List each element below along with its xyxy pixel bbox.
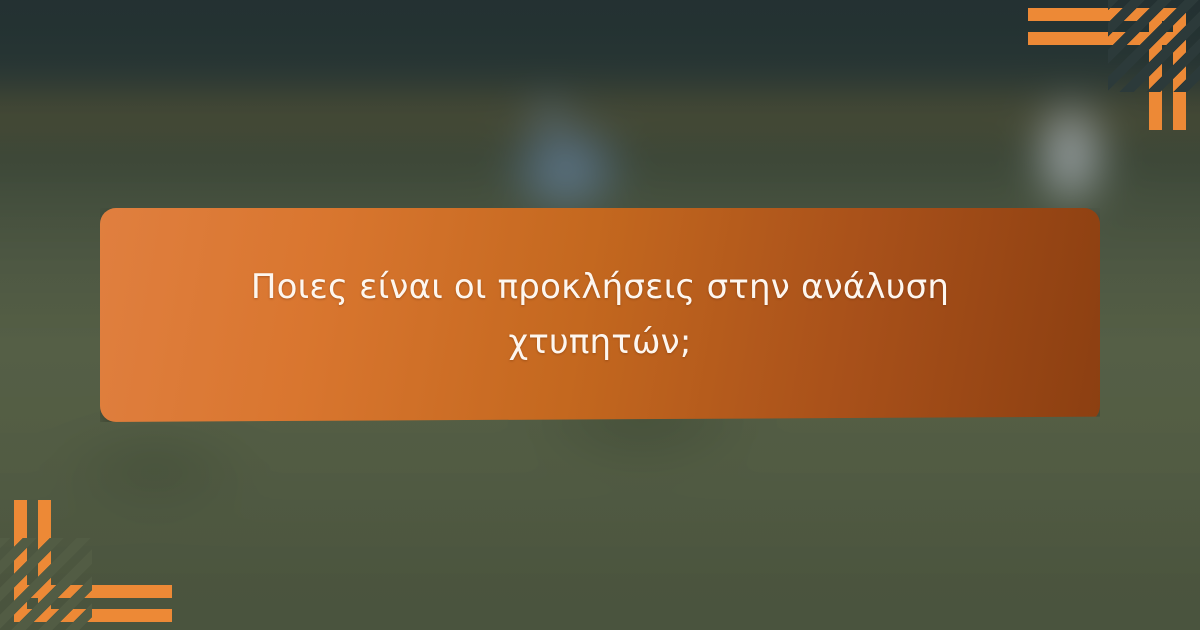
bracket-hatch-pattern: [1108, 0, 1200, 92]
poster-canvas: Ποιες είναι οι προκλήσεις στην ανάλυση χ…: [0, 0, 1200, 630]
corner-bracket-top-right: [1028, 0, 1200, 132]
bracket-hatch-pattern: [0, 538, 92, 630]
corner-bracket-bottom-left: [0, 498, 172, 630]
question-card: Ποιες είναι οι προκλήσεις στην ανάλυση χ…: [100, 208, 1100, 422]
question-text: Ποιες είναι οι προκλήσεις στην ανάλυση χ…: [250, 260, 950, 370]
